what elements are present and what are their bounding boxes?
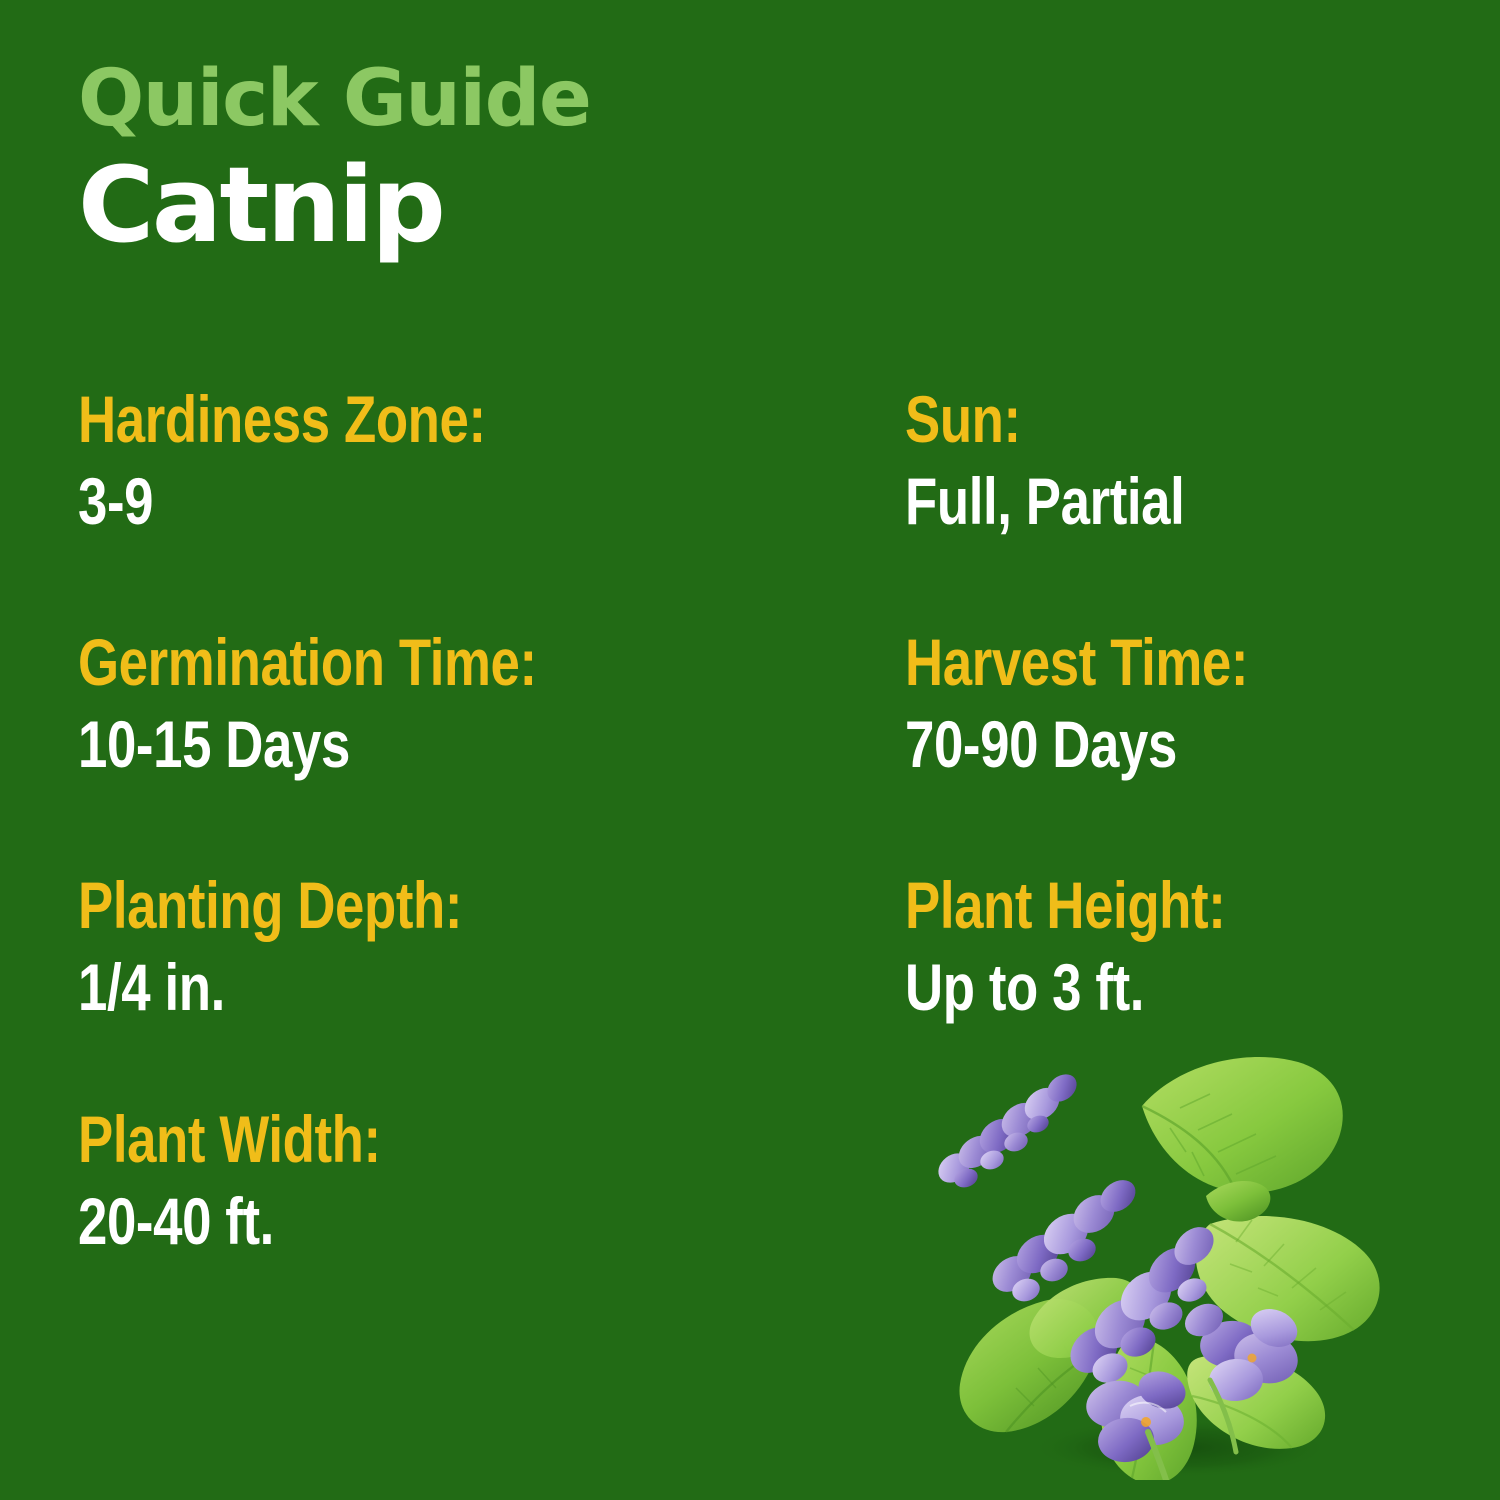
plant-shadow xyxy=(1030,1418,1330,1478)
fact-label: Hardiness Zone: xyxy=(78,386,710,452)
fact-value: Full, Partial xyxy=(905,468,1353,534)
fact-plant-height: Plant Height: Up to 3 ft. xyxy=(905,872,1465,1020)
fact-value: 10-15 Days xyxy=(78,711,710,777)
fact-grid: Hardiness Zone: 3-9 Germination Time: 10… xyxy=(0,386,1500,1326)
page-title: Catnip xyxy=(78,152,978,258)
fact-value: 1/4 in. xyxy=(78,954,710,1020)
flower-cluster-bottom-center xyxy=(1082,1365,1191,1464)
fact-label: Germination Time: xyxy=(78,629,710,695)
fact-value: 70-90 Days xyxy=(905,711,1353,777)
fact-germination-time: Germination Time: 10-15 Days xyxy=(78,629,868,777)
guide-kicker: Quick Guide xyxy=(78,60,978,138)
fact-value: 3-9 xyxy=(78,468,710,534)
fact-plant-width: Plant Width: 20-40 ft. xyxy=(78,1106,868,1254)
fact-harvest-time: Harvest Time: 70-90 Days xyxy=(905,629,1465,777)
plant-stems xyxy=(1148,1380,1236,1480)
fact-value: 20-40 ft. xyxy=(78,1188,710,1254)
fact-hardiness-zone: Hardiness Zone: 3-9 xyxy=(78,386,868,534)
fact-label: Plant Height: xyxy=(905,872,1353,938)
quick-guide-infographic: Quick Guide Catnip Hardiness Zone: 3-9 G… xyxy=(0,0,1500,1500)
fact-label: Planting Depth: xyxy=(78,872,710,938)
fact-value: Up to 3 ft. xyxy=(905,954,1353,1020)
fact-label: Sun: xyxy=(905,386,1353,452)
fact-planting-depth: Planting Depth: 1/4 in. xyxy=(78,872,868,1020)
fact-label: Plant Width: xyxy=(78,1106,710,1172)
fact-sun: Sun: Full, Partial xyxy=(905,386,1465,534)
fact-label: Harvest Time: xyxy=(905,629,1353,695)
header: Quick Guide Catnip xyxy=(78,60,978,258)
